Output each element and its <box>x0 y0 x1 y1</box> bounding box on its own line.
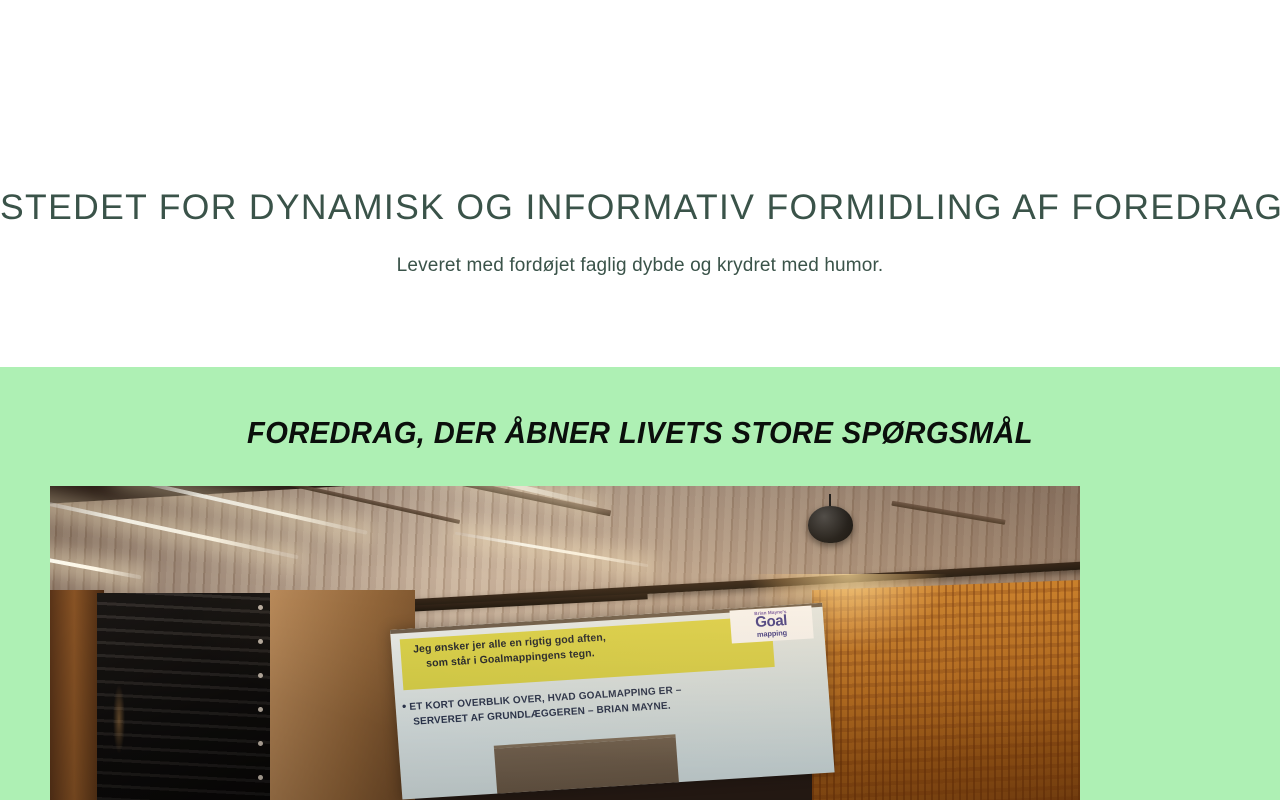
hero-subtitle: Leveret med fordøjet faglig dybde og kry… <box>0 254 1280 279</box>
blinds-edge-lights <box>258 605 270 793</box>
goalmapping-logo: Brian Mayne's Goal mapping <box>729 606 813 644</box>
slide-bullet-marker: • <box>401 699 406 713</box>
blinds-light-dot <box>258 707 263 712</box>
photo-inner: Jeg ønsker jer alle en rigtig god aften,… <box>50 486 1080 800</box>
slide-foreground-object <box>494 735 679 797</box>
page-title: STEDET FOR DYNAMISK OG INFORMATIV FORMID… <box>0 186 1280 229</box>
blinds-light-dot <box>258 605 263 610</box>
blinds-light-dot <box>258 639 263 644</box>
section-heading: FOREDRAG, DER ÅBNER LIVETS STORE SPØRGSM… <box>38 415 1241 451</box>
blinds-light-dot <box>258 673 263 678</box>
perforated-acoustic-wall <box>812 580 1080 800</box>
blinds-reflection <box>113 684 125 754</box>
blinds-light-dot <box>258 775 263 780</box>
ceiling-speaker <box>808 506 853 542</box>
hero-section: STEDET FOR DYNAMISK OG INFORMATIV FORMID… <box>0 0 1280 367</box>
page-root: STEDET FOR DYNAMISK OG INFORMATIV FORMID… <box>0 0 1280 800</box>
mid-wall-panel <box>270 590 414 800</box>
left-wood-column <box>50 590 104 800</box>
green-section: FOREDRAG, DER ÅBNER LIVETS STORE SPØRGSM… <box>0 367 1280 800</box>
projection-screen: Jeg ønsker jer alle en rigtig god aften,… <box>390 603 834 799</box>
blinds-light-dot <box>258 741 263 746</box>
window-blinds-panel <box>97 593 272 800</box>
conference-room-photo: Jeg ønsker jer alle en rigtig god aften,… <box>50 486 1080 800</box>
